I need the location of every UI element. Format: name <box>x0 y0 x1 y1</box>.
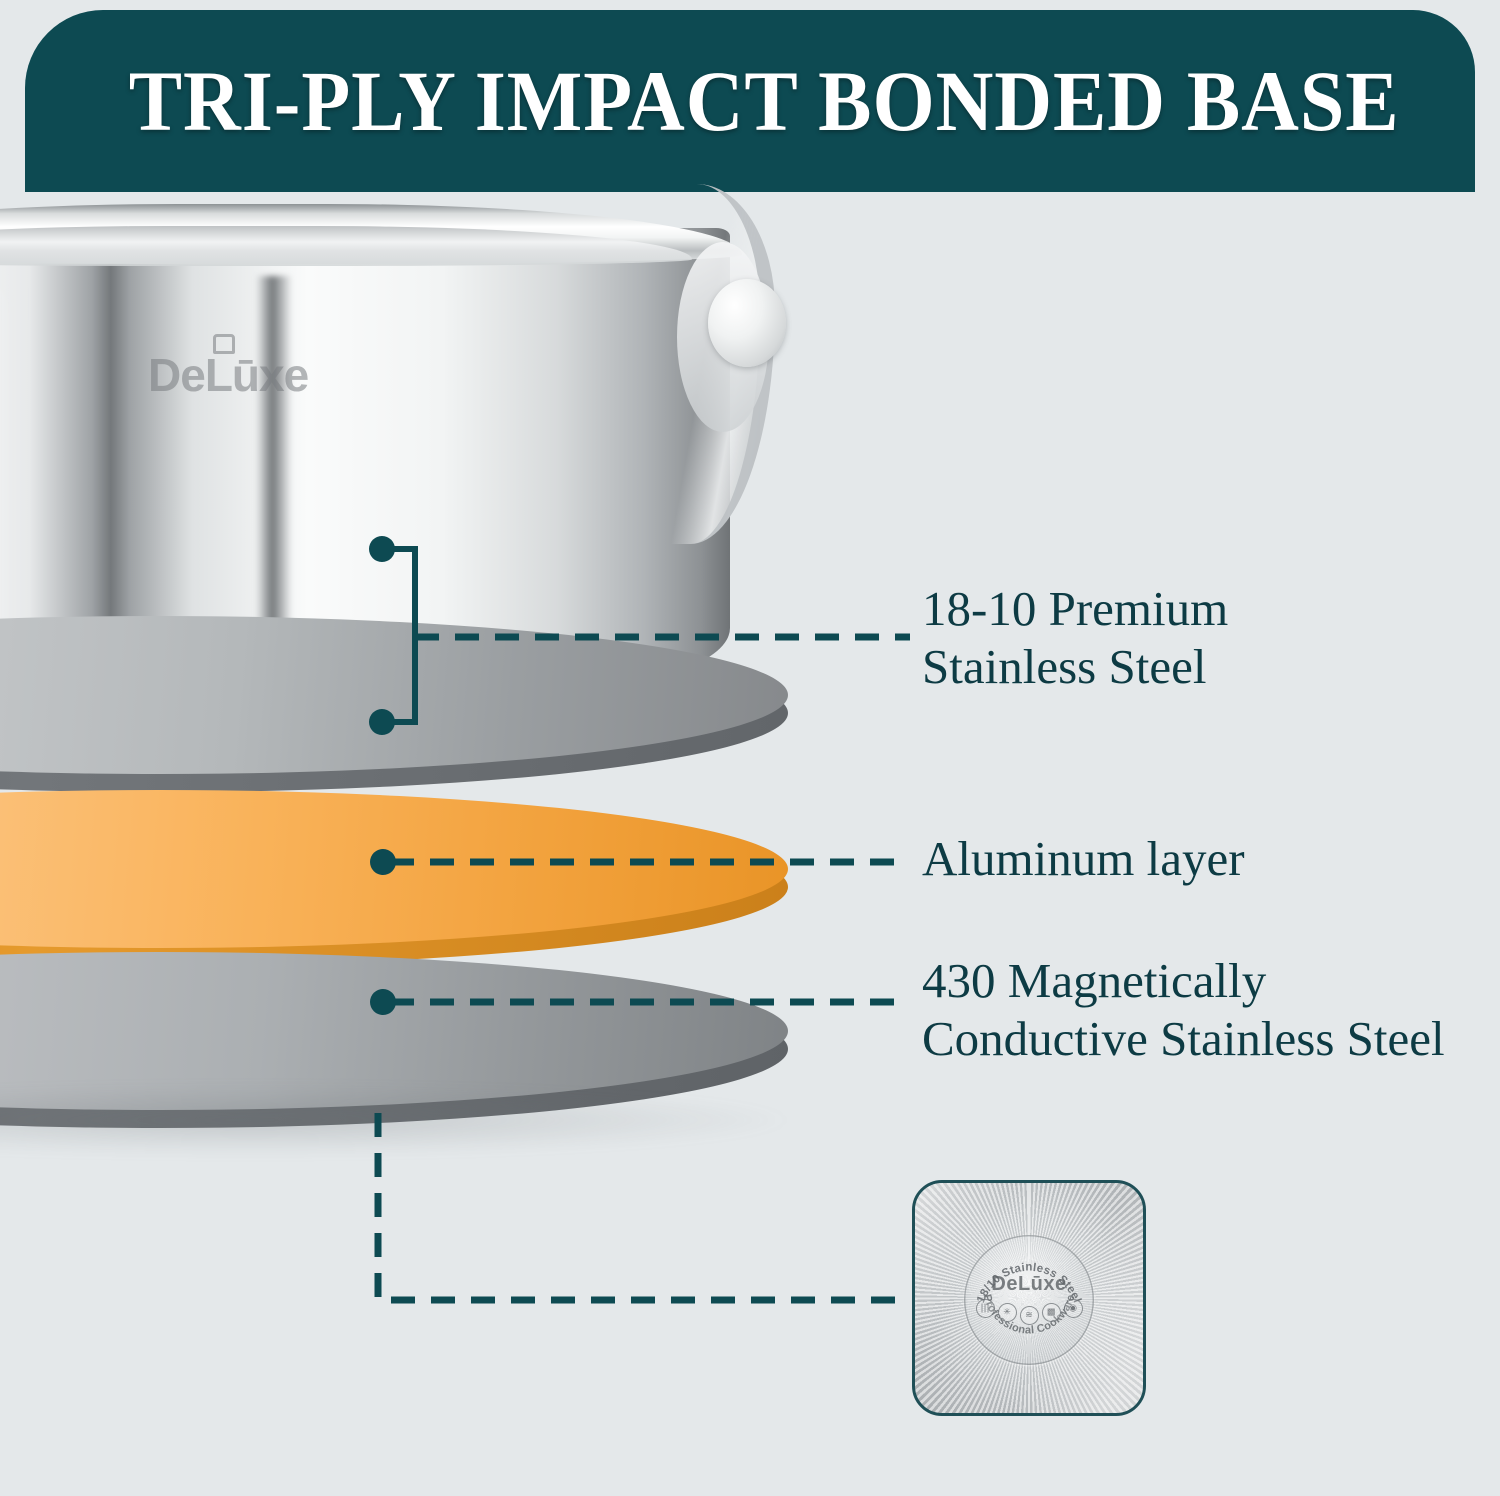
page-title: TRI-PLY IMPACT BONDED BASE <box>101 51 1400 151</box>
disc-surface <box>0 616 788 774</box>
layer-disc-aluminum <box>0 790 788 948</box>
label-steel-430: 430 Magnetically Conductive Stainless St… <box>922 952 1445 1068</box>
pan-base-badge: 18/10 Stainless Steel Professional Cookw… <box>912 1180 1146 1416</box>
halogen-hob-icon: ≋ <box>1020 1306 1039 1325</box>
disc-drop-shadow <box>0 1085 800 1155</box>
gas-hob-icon: ||| <box>976 1299 995 1318</box>
header-banner: TRI-PLY IMPACT BONDED BASE <box>25 10 1475 192</box>
pot-rim-inner <box>0 226 692 266</box>
medallion-stamp: 18/10 Stainless Steel Professional Cookw… <box>964 1235 1094 1365</box>
medallion-icon-row: ||| ✳ ≋ ▩ ◉ <box>964 1303 1094 1325</box>
medallion-brand: DeLūxe <box>964 1273 1094 1296</box>
pot-brand-logo: DeLūxe <box>148 348 308 402</box>
electric-hob-icon: ✳ <box>998 1303 1017 1322</box>
infographic-stage: TRI-PLY IMPACT BONDED BASE DeLūxe <box>0 0 1500 1496</box>
pot-handle <box>625 184 805 584</box>
disc-surface <box>0 790 788 948</box>
oven-safe-icon: ◉ <box>1064 1299 1083 1318</box>
label-steel-18-10: 18-10 Premium Stainless Steel <box>922 580 1228 696</box>
label-aluminum: Aluminum layer <box>922 830 1245 888</box>
layer-disc-steel-18-10 <box>0 616 788 774</box>
handle-rivet <box>708 279 786 367</box>
induction-hob-icon: ▩ <box>1042 1303 1061 1322</box>
